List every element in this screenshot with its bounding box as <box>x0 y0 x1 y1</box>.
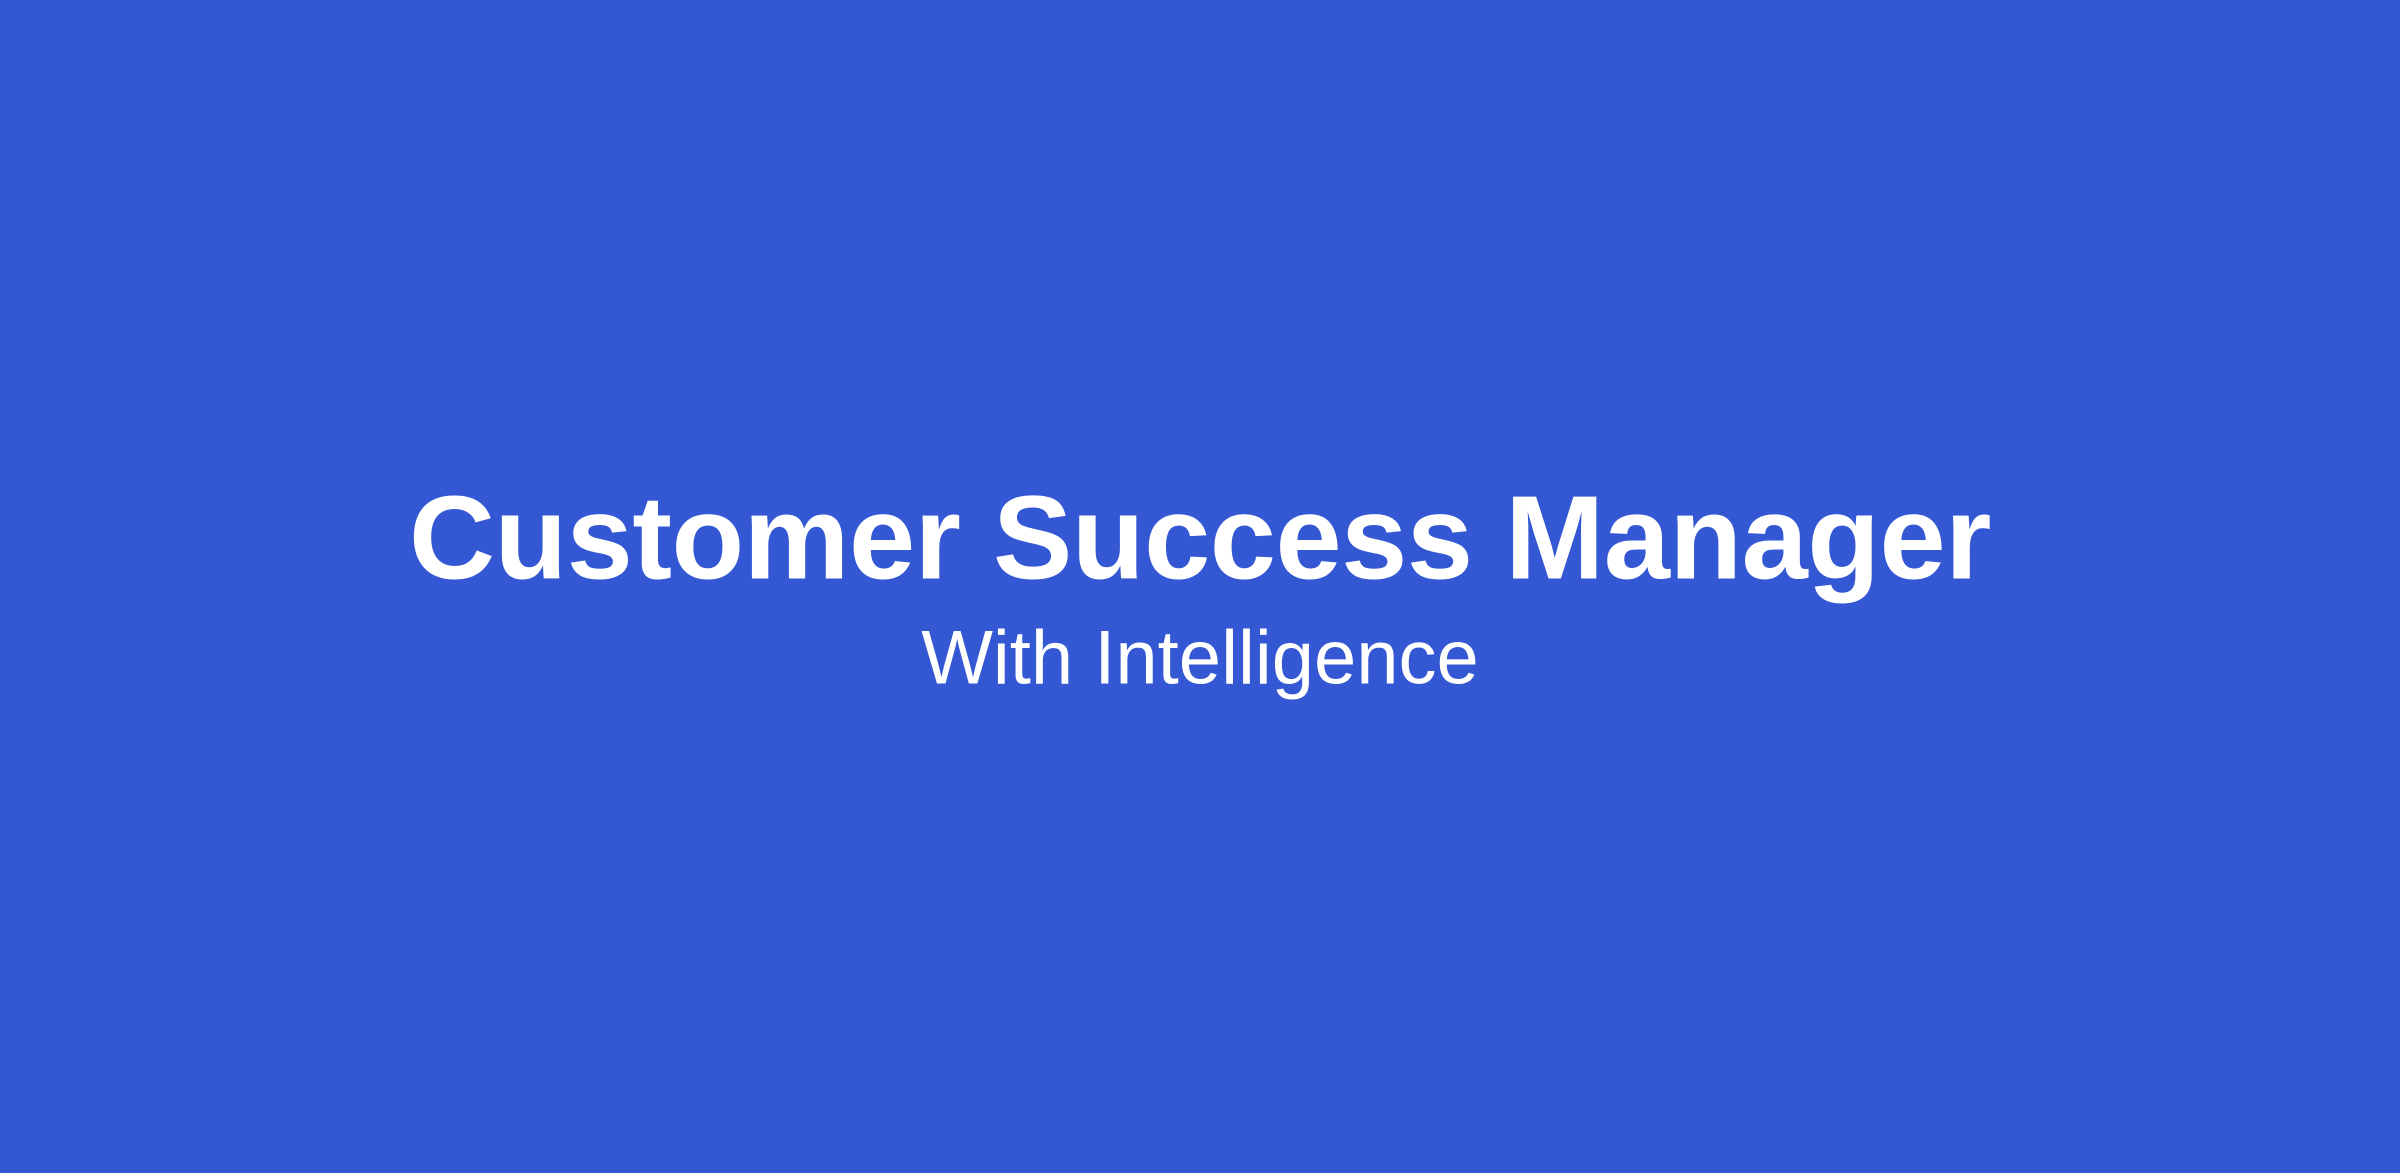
page-title: Customer Success Manager <box>409 475 1991 601</box>
hero-text-block: Customer Success Manager With Intelligen… <box>0 475 2400 700</box>
title-slide: Customer Success Manager With Intelligen… <box>0 0 2400 1173</box>
page-subtitle: With Intelligence <box>921 616 1479 701</box>
